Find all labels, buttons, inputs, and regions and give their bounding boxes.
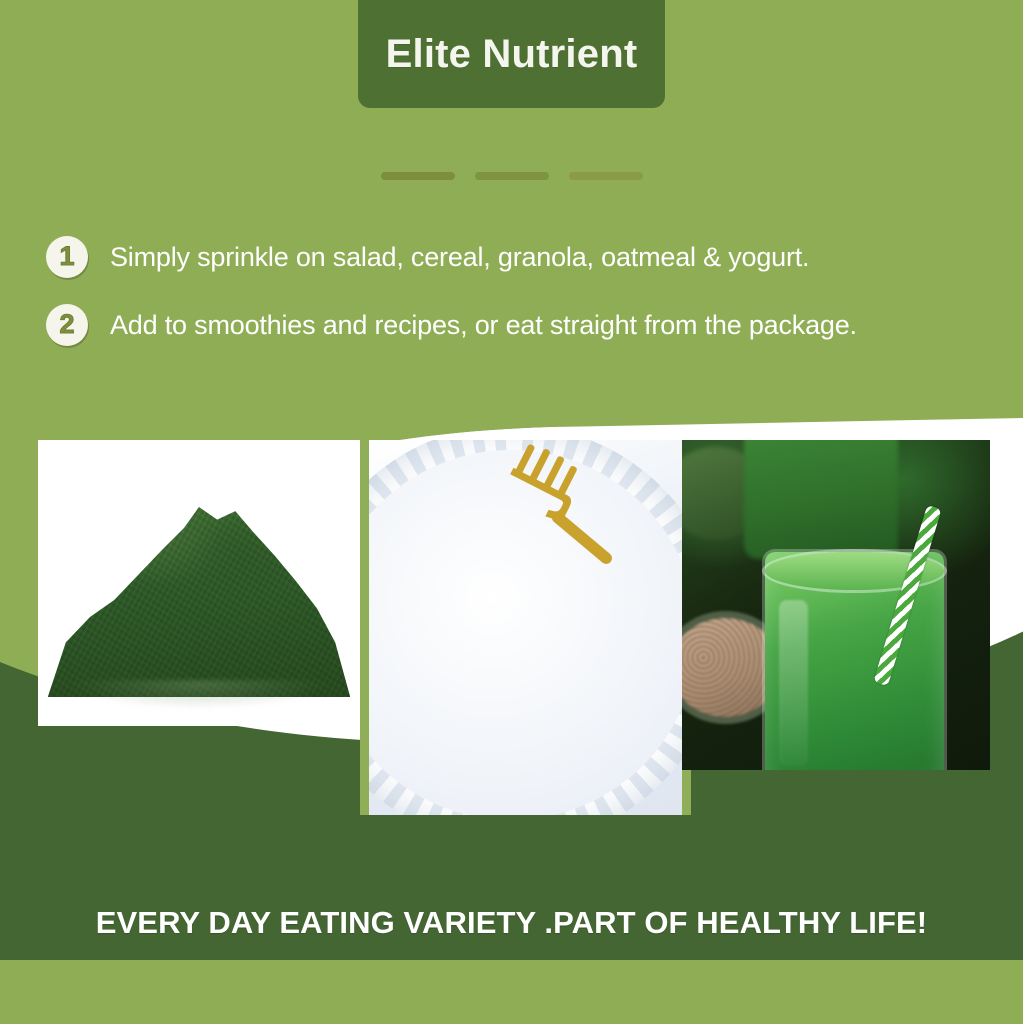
step-number: 1 (59, 243, 74, 272)
gallery-image-powder (38, 440, 360, 726)
step-text: Simply sprinkle on salad, cereal, granol… (110, 242, 809, 273)
step-number-badge: 2 (46, 304, 88, 346)
step-number: 2 (59, 311, 74, 340)
step-number-badge: 1 (46, 236, 88, 278)
dash-icon (475, 172, 549, 180)
powder-dust-shape (44, 680, 353, 720)
step-text: Add to smoothies and recipes, or eat str… (110, 310, 857, 341)
list-item: 2 Add to smoothies and recipes, or eat s… (46, 304, 986, 346)
powder-photo (38, 440, 360, 726)
dash-icon (569, 172, 643, 180)
salad-photo (369, 440, 682, 815)
gallery-image-salad (360, 440, 691, 815)
promo-banner: Elite Nutrient 1 Simply sprinkle on sala… (0, 0, 1023, 1024)
gallery-image-smoothie (682, 440, 990, 770)
title-box: Elite Nutrient (358, 0, 665, 108)
footer-tagline: EVERY DAY EATING VARIETY .PART OF HEALTH… (0, 905, 1023, 941)
usage-steps-list: 1 Simply sprinkle on salad, cereal, gran… (46, 236, 986, 372)
page-title: Elite Nutrient (386, 18, 638, 77)
smoothie-photo (682, 440, 990, 770)
decorative-dashes (0, 172, 1023, 180)
image-gallery (30, 440, 990, 815)
dash-icon (381, 172, 455, 180)
powder-mound-shape (48, 486, 351, 698)
list-item: 1 Simply sprinkle on salad, cereal, gran… (46, 236, 986, 278)
blender-jar-shape (744, 440, 898, 559)
